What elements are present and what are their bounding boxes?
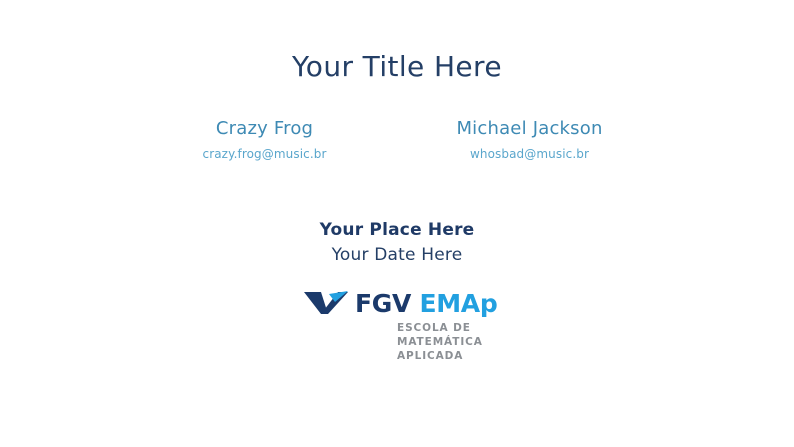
logo-top-row: FGV EMAp bbox=[304, 288, 490, 318]
fgv-chevron-icon bbox=[304, 290, 348, 316]
author-name: Michael Jackson bbox=[397, 118, 662, 141]
logo-wordmark-emap: EMAp bbox=[419, 289, 497, 318]
author-block-1: Crazy Frog crazy.frog@music.br bbox=[132, 118, 397, 162]
venue-block: Your Place Here Your Date Here bbox=[0, 219, 794, 267]
logo-subtitle: ESCOLA DE MATEMÁTICA APLICADA bbox=[397, 321, 490, 364]
logo-wordmark-fgv: FGV bbox=[355, 289, 411, 318]
author-block-2: Michael Jackson whosbad@music.br bbox=[397, 118, 662, 162]
logo-subtitle-line-1: ESCOLA DE bbox=[397, 321, 490, 335]
page-title: Your Title Here bbox=[0, 50, 794, 84]
venue-place: Your Place Here bbox=[0, 219, 794, 242]
title-slide: Your Title Here Crazy Frog crazy.frog@mu… bbox=[0, 0, 794, 447]
institution-logo: FGV EMAp ESCOLA DE MATEMÁTICA APLICADA bbox=[0, 288, 794, 364]
logo-wordmark: FGV EMAp bbox=[355, 291, 497, 316]
author-name: Crazy Frog bbox=[132, 118, 397, 141]
authors-row: Crazy Frog crazy.frog@music.br Michael J… bbox=[0, 118, 794, 162]
logo-subtitle-line-3: APLICADA bbox=[397, 349, 490, 363]
logo-subtitle-line-2: MATEMÁTICA bbox=[397, 335, 490, 349]
author-email: crazy.frog@music.br bbox=[132, 147, 397, 163]
author-email: whosbad@music.br bbox=[397, 147, 662, 163]
venue-date: Your Date Here bbox=[0, 244, 794, 267]
